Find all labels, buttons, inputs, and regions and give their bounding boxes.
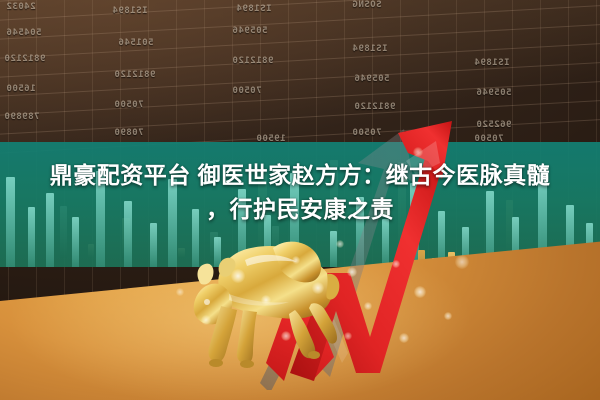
bokeh-dot xyxy=(201,315,211,325)
bokeh-dot xyxy=(414,286,426,298)
bokeh-dot xyxy=(455,255,469,269)
bokeh-dot xyxy=(392,260,400,268)
bokeh-dot xyxy=(413,147,423,157)
bokeh-dot xyxy=(347,267,357,277)
promo-banner-image: 24032IS1894IS1894SOSNG504546501546IS1894… xyxy=(0,0,600,400)
bokeh-dot xyxy=(312,282,324,294)
bokeh-dot xyxy=(336,240,344,248)
bokeh-dot xyxy=(344,332,352,340)
bokeh-dot xyxy=(231,269,245,283)
bokeh-dot xyxy=(261,295,271,305)
bokeh-dot xyxy=(281,331,291,341)
headline-line-1: 鼎豪配资平台 御医世家赵方方：继古今医脉真髓 xyxy=(50,162,550,188)
bokeh-dot xyxy=(444,312,452,320)
bokeh-dot xyxy=(292,256,300,264)
bokeh-dot xyxy=(399,333,409,343)
headline-line-2: ，行护民安康之责 xyxy=(0,192,600,226)
bokeh-dot xyxy=(364,302,372,310)
headline-text: 鼎豪配资平台 御医世家赵方方：继古今医脉真髓 ，行护民安康之责 xyxy=(0,158,600,226)
bokeh-dot xyxy=(176,288,184,296)
